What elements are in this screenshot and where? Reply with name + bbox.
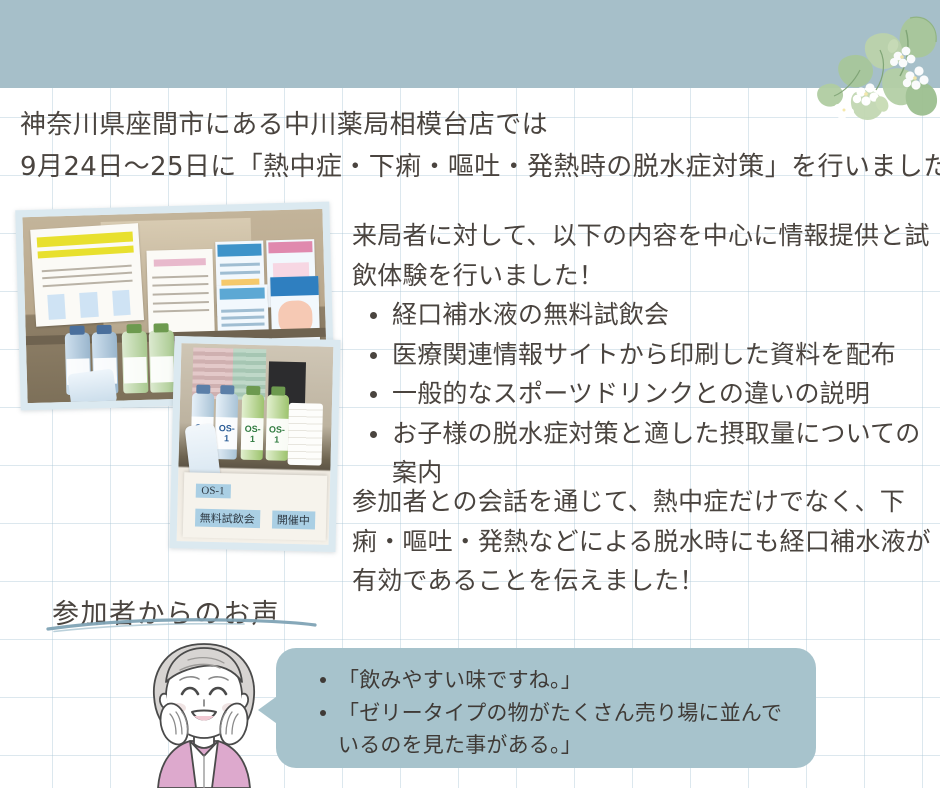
activity-list: 経口補水液の無料試飲会 医療関連情報サイトから印刷した資料を配布 一般的なスポー…	[352, 295, 930, 493]
voices-quote-list: 「飲みやすい味ですね。」 「ゼリータイプの物がたくさん売り場に並んでいるのを見た…	[310, 664, 798, 762]
header-line-1: 神奈川県座間市にある中川薬局相模台店では	[20, 104, 920, 146]
voices-heading: 参加者からのお声	[52, 592, 280, 631]
header-text: 神奈川県座間市にある中川薬局相模台店では 9月24日〜25日に「熱中症・下痢・嘔…	[20, 104, 920, 188]
tasting-sign: OS-1 無料試飲会 開催中	[183, 472, 327, 541]
activity-list-item-3: 一般的なスポーツドリンクとの違いの説明	[392, 374, 930, 414]
os1-label-2: OS-1	[216, 423, 236, 443]
activity-list-item-4: お子様の脱水症対策と適した摂取量についての案内	[392, 414, 930, 493]
speech-bubble: 「飲みやすい味ですね。」 「ゼリータイプの物がたくさん売り場に並んでいるのを見た…	[276, 648, 816, 768]
activity-list-item-2: 医療関連情報サイトから印刷した資料を配布	[392, 335, 930, 375]
sign-event-name: 無料試飲会	[194, 509, 259, 529]
voices-quote-1: 「飲みやすい味ですね。」	[338, 664, 798, 697]
body-copy: 来局者に対して、以下の内容を中心に情報提供と試飲体験を行いました！ 経口補水液の…	[352, 216, 930, 493]
photo-os1-tasting-booth: OS-1 OS-1 OS-1 OS-1 OS-1 無料試飲会 開催中	[169, 336, 340, 552]
os1-label-3: OS-1	[242, 424, 262, 444]
activity-list-item-1: 経口補水液の無料試飲会	[392, 295, 930, 335]
voices-quote-2: 「ゼリータイプの物がたくさん売り場に並んでいるのを見た事がある。」	[338, 697, 798, 762]
photo-2-scene: OS-1 OS-1 OS-1 OS-1 OS-1 無料試飲会 開催中	[177, 343, 334, 545]
header-line-2: 9月24日〜25日に「熱中症・下痢・嘔吐・発熱時の脱水症対策」を行いました！	[20, 146, 920, 188]
closing-copy: 参加者との会話を通じて、熱中症だけでなく、下痢・嘔吐・発熱などによる脱水時にも経…	[352, 482, 932, 601]
poster-page: 神奈川県座間市にある中川薬局相模台店では 9月24日〜25日に「熱中症・下痢・嘔…	[0, 0, 940, 788]
sign-product-name: OS-1	[195, 484, 231, 499]
sign-status: 開催中	[272, 511, 315, 530]
closing-text: 参加者との会話を通じて、熱中症だけでなく、下痢・嘔吐・発熱などによる脱水時にも経…	[352, 482, 932, 601]
os1-label-4: OS-1	[267, 424, 287, 444]
body-intro: 来局者に対して、以下の内容を中心に情報提供と試飲体験を行いました！	[352, 216, 930, 295]
top-banner	[0, 0, 940, 88]
